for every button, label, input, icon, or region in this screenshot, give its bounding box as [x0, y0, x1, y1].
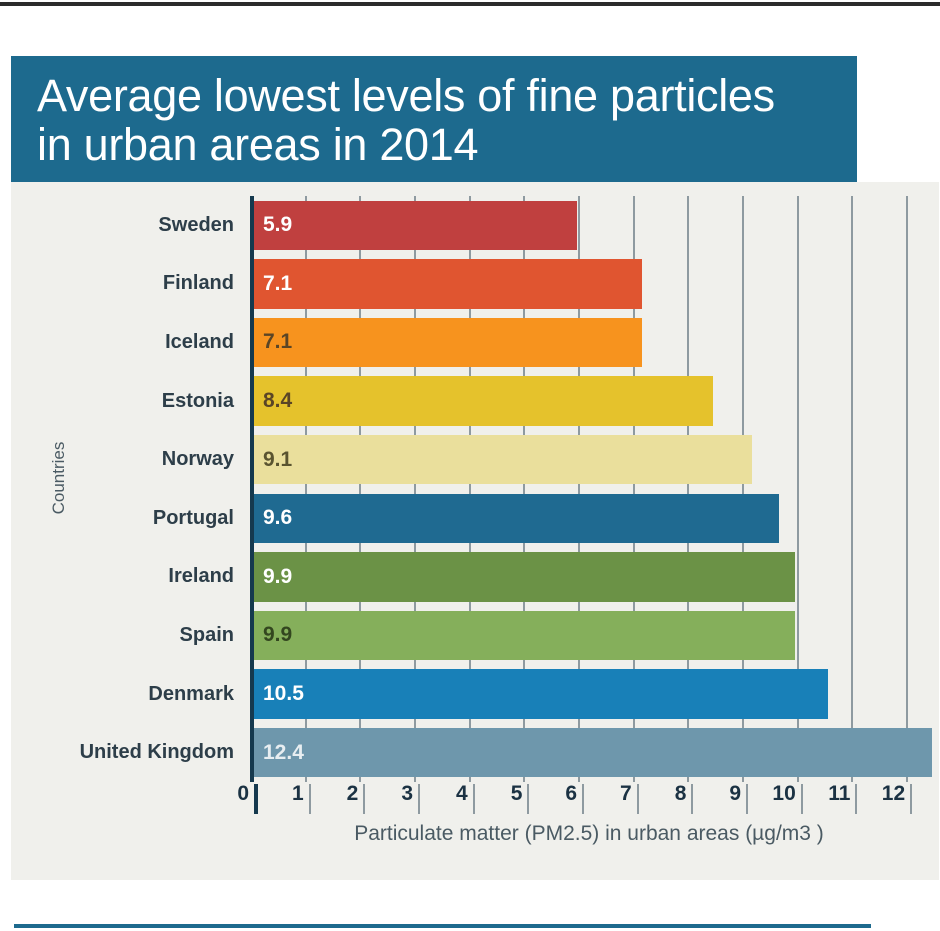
bar-value-label: 7.1: [254, 272, 292, 296]
x-tick-label: 0: [237, 782, 254, 806]
infographic-root: Average lowest levels of fine particles …: [0, 0, 940, 931]
x-tick-label: 9: [729, 782, 746, 806]
category-label: Sweden: [158, 201, 234, 251]
bottom-divider-rule: [14, 924, 871, 928]
category-label: Estonia: [162, 376, 234, 426]
x-tick-label: 8: [675, 782, 692, 806]
x-tick-label: 10: [772, 782, 800, 806]
x-tick-separator: [746, 784, 748, 814]
x-tick-separator: [910, 784, 912, 814]
x-tick-separator: [363, 784, 365, 814]
category-label: Spain: [180, 611, 234, 661]
bar-row: 9.9: [254, 552, 928, 602]
bar[interactable]: 9.9: [254, 611, 795, 661]
x-tick-label: 12: [882, 782, 910, 806]
top-divider-rule: [0, 2, 940, 6]
bar-row: 9.9: [254, 611, 928, 661]
bar-row: 9.1: [254, 435, 928, 485]
x-tick-separator: [527, 784, 529, 814]
x-tick-label: 7: [620, 782, 637, 806]
category-label: Ireland: [168, 552, 234, 602]
plot-area: 5.97.17.18.49.19.69.99.910.512.4: [250, 196, 928, 782]
x-tick-separator: [855, 784, 857, 814]
bar-value-label: 12.4: [254, 741, 304, 765]
x-tick-label: 11: [828, 782, 855, 806]
x-tick-label: 2: [347, 782, 364, 806]
bar[interactable]: 9.9: [254, 552, 795, 602]
x-tick-separator: [691, 784, 693, 814]
bar-value-label: 10.5: [254, 682, 304, 706]
bar-value-label: 9.6: [254, 506, 292, 530]
x-tick-separator: [309, 784, 311, 814]
x-axis-tick-labels: 0123456789101112: [250, 782, 932, 816]
bar-value-label: 5.9: [254, 213, 292, 237]
x-tick-label: 5: [511, 782, 528, 806]
bar-row: 9.6: [254, 494, 928, 544]
category-label: Iceland: [165, 318, 234, 368]
bar-row: 7.1: [254, 259, 928, 309]
bar[interactable]: 7.1: [254, 318, 642, 368]
bar-value-label: 7.1: [254, 330, 292, 354]
bar[interactable]: 7.1: [254, 259, 642, 309]
x-tick-separator: [418, 784, 420, 814]
bar-value-label: 9.1: [254, 448, 292, 472]
bar-value-label: 8.4: [254, 389, 292, 413]
bar-value-label: 9.9: [254, 565, 292, 589]
category-label: Portugal: [153, 494, 234, 544]
bar-series: 5.97.17.18.49.19.69.99.910.512.4: [254, 196, 928, 782]
bar[interactable]: 12.4: [254, 728, 932, 778]
bar-row: 8.4: [254, 376, 928, 426]
bar[interactable]: 5.9: [254, 201, 577, 251]
x-tick-separator: [254, 784, 258, 814]
x-tick-label: 6: [565, 782, 582, 806]
category-label: Finland: [163, 259, 234, 309]
x-axis-title: Particulate matter (PM2.5) in urban area…: [250, 822, 928, 846]
bar[interactable]: 8.4: [254, 376, 713, 426]
bar-row: 12.4: [254, 728, 928, 778]
x-tick-separator: [637, 784, 639, 814]
category-label: Denmark: [148, 669, 234, 719]
category-label: United Kingdom: [80, 728, 234, 778]
bar-row: 7.1: [254, 318, 928, 368]
bar-value-label: 9.9: [254, 623, 292, 647]
x-tick-label: 3: [401, 782, 418, 806]
x-tick-label: 1: [292, 782, 309, 806]
title-banner: Average lowest levels of fine particles …: [11, 56, 857, 182]
bar[interactable]: 10.5: [254, 669, 828, 719]
chart-panel: Countries SwedenFinlandIcelandEstoniaNor…: [11, 182, 939, 880]
x-tick-label: 4: [456, 782, 473, 806]
x-tick-separator: [582, 784, 584, 814]
page-title: Average lowest levels of fine particles …: [37, 72, 857, 169]
y-axis-category-labels: SwedenFinlandIcelandEstoniaNorwayPortuga…: [11, 196, 244, 782]
x-tick-separator: [473, 784, 475, 814]
category-label: Norway: [162, 435, 234, 485]
bar-row: 10.5: [254, 669, 928, 719]
bar[interactable]: 9.6: [254, 494, 779, 544]
x-tick-separator: [801, 784, 803, 814]
bar-row: 5.9: [254, 201, 928, 251]
bar[interactable]: 9.1: [254, 435, 752, 485]
